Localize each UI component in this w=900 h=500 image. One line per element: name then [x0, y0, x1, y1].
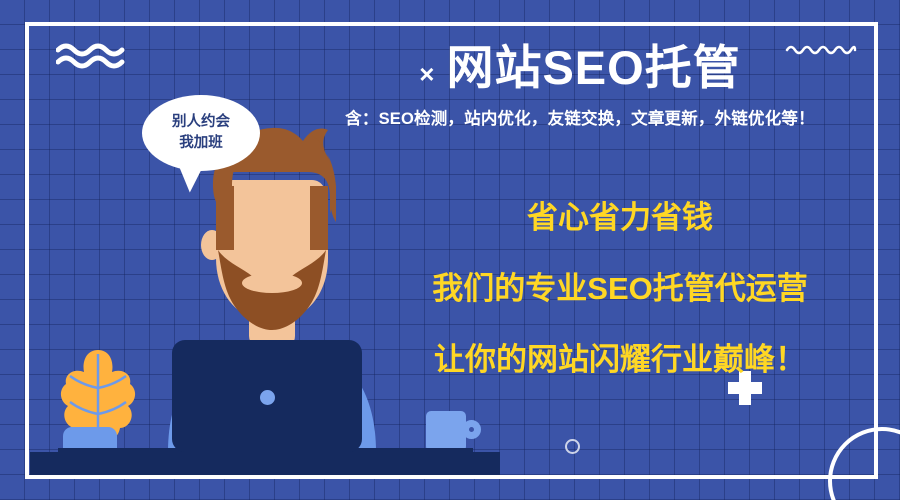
page-title: 网站SEO托管 — [446, 44, 740, 91]
slogan-block: 省心省力省钱 我们的专业SEO托管代运营 让你的网站闪耀行业巅峰！ — [370, 192, 870, 379]
mini-circle-icon — [565, 439, 580, 454]
x-mark-icon: × — [419, 61, 434, 87]
seo-promo-banner: 别人约会 我加班 × 网站SEO托管 含：SEO检测，站内优化，友链交换，文章更… — [0, 0, 900, 500]
headline-block: × 网站SEO托管 含：SEO检测，站内优化，友链交换，文章更新，外链优化等！ — [300, 44, 860, 129]
slogan-line-3: 让你的网站闪耀行业巅峰！ — [370, 334, 870, 379]
subtitle: 含：SEO检测，站内优化，友链交换，文章更新，外链优化等！ — [300, 105, 860, 129]
title-row: × 网站SEO托管 — [300, 44, 860, 91]
slogan-line-2: 我们的专业SEO托管代运营 — [370, 263, 870, 308]
double-wave-icon — [56, 43, 126, 69]
slogan-line-1: 省心省力省钱 — [370, 192, 870, 237]
